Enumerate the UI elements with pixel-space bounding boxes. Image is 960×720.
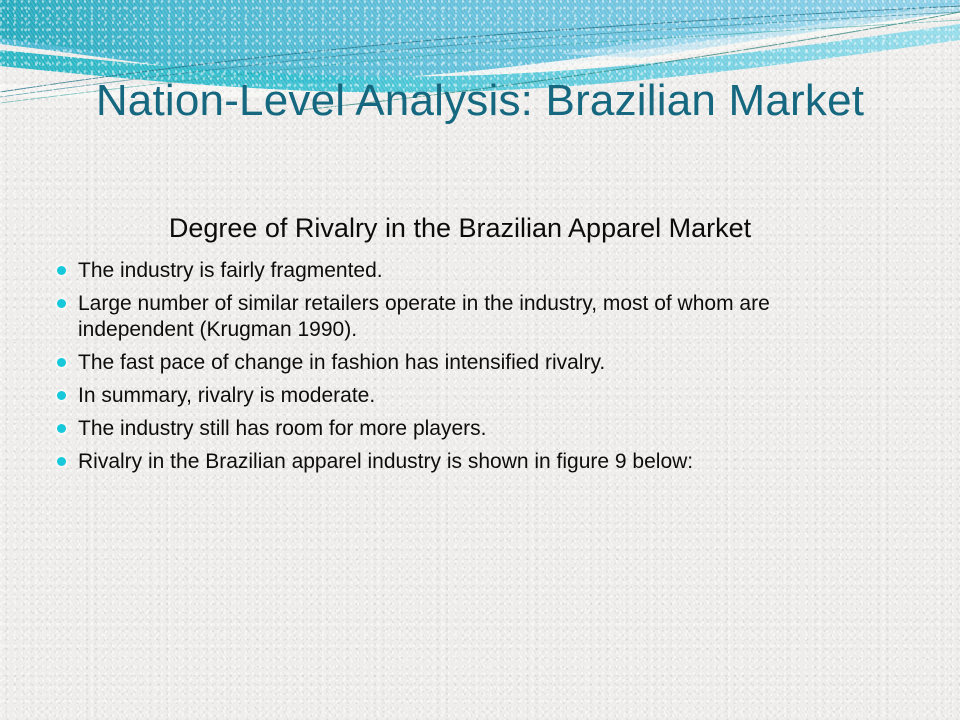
slide-subtitle: Degree of Rivalry in the Brazilian Appar… [40, 212, 880, 244]
slide-canvas: Nation-Level Analysis: Brazilian Market … [0, 0, 960, 720]
slide-title: Nation-Level Analysis: Brazilian Market [60, 74, 900, 127]
slide-content: Nation-Level Analysis: Brazilian Market … [0, 0, 960, 720]
list-item: In summary, rivalry is moderate. [46, 383, 926, 409]
list-item: Large number of similar retailers operat… [46, 291, 926, 343]
list-item-text: Rivalry in the Brazilian apparel industr… [78, 449, 693, 475]
list-item-text: The industry is fairly fragmented. [78, 258, 383, 284]
bullet-dot-icon [46, 258, 78, 284]
list-item-text: The industry still has room for more pla… [78, 416, 486, 442]
bullet-dot-icon [46, 449, 78, 475]
list-item-text: The fast pace of change in fashion has i… [78, 350, 605, 376]
list-item-text: In summary, rivalry is moderate. [78, 383, 375, 409]
bullet-list: The industry is fairly fragmented. Large… [46, 258, 926, 482]
list-item-text: Large number of similar retailers operat… [78, 291, 868, 343]
list-item: The industry is fairly fragmented. [46, 258, 926, 284]
list-item: Rivalry in the Brazilian apparel industr… [46, 449, 926, 475]
bullet-dot-icon [46, 383, 78, 409]
bullet-dot-icon [46, 350, 78, 376]
list-item: The industry still has room for more pla… [46, 416, 926, 442]
list-item: The fast pace of change in fashion has i… [46, 350, 926, 376]
bullet-dot-icon [46, 291, 78, 317]
bullet-dot-icon [46, 416, 78, 442]
